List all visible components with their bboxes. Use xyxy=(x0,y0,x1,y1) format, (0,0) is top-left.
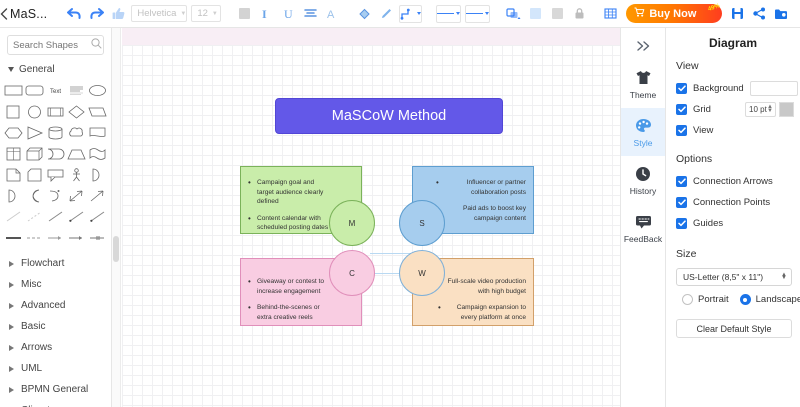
options-section-label: Options xyxy=(666,141,800,171)
chevron-down-icon xyxy=(485,12,489,15)
panel-title: Diagram xyxy=(666,28,800,59)
format-panel: Diagram View Background Grid 10 pt ▲▼ xyxy=(666,28,800,407)
document-title[interactable]: MaS... xyxy=(8,7,53,21)
view-section-label: View xyxy=(666,59,800,78)
clock-icon xyxy=(635,165,651,183)
search-input[interactable] xyxy=(13,40,91,51)
background-label: Background xyxy=(693,83,744,94)
quadrant-bullet: Influencer or partner collaboration post… xyxy=(445,178,526,197)
landscape-radio[interactable] xyxy=(740,294,751,305)
lock-icon[interactable] xyxy=(568,3,590,25)
shape-half-circle[interactable] xyxy=(88,165,107,184)
chevron-down-icon xyxy=(8,67,14,72)
connection-points-label: Connection Points xyxy=(693,197,770,208)
quadrant-circle-m[interactable]: M xyxy=(329,200,375,246)
chevron-down-icon xyxy=(456,12,460,15)
grid-size-value: 10 pt xyxy=(749,105,767,114)
chevron-down-icon: ▼ xyxy=(212,11,218,17)
stepper-arrows-icon[interactable]: ▲▼ xyxy=(767,106,775,113)
row-background: Background xyxy=(666,78,800,99)
category-label: BPMN General xyxy=(21,384,88,395)
shapes-panel: General Text xyxy=(0,28,112,407)
back-icon[interactable] xyxy=(0,0,8,28)
fill-color-icon[interactable] xyxy=(233,3,255,25)
shape-rectangle[interactable] xyxy=(4,81,23,100)
chevron-right-icon xyxy=(9,366,14,372)
quadrant-key: S xyxy=(419,219,424,228)
shape-square[interactable] xyxy=(4,102,23,121)
line-style-icon[interactable] xyxy=(436,5,461,23)
chevron-right-icon xyxy=(9,324,14,330)
tab-style[interactable]: Style xyxy=(621,108,665,156)
chevron-down-icon: ▼ xyxy=(180,11,186,17)
connector-style-icon[interactable] xyxy=(399,5,422,23)
thumbs-up-icon[interactable] xyxy=(107,3,129,25)
shape-wave[interactable] xyxy=(88,144,107,163)
orientation-group: Portrait Landscape xyxy=(666,286,800,305)
shape-cylinder[interactable] xyxy=(46,123,65,142)
shape-category-basic[interactable]: Basic xyxy=(0,316,111,337)
quadrant-bullet: Content calendar with scheduled posting … xyxy=(248,214,331,233)
background-color-input[interactable] xyxy=(750,81,798,96)
share-icon[interactable] xyxy=(748,3,770,25)
shape-operations-icon[interactable] xyxy=(502,3,524,25)
table-icon[interactable] xyxy=(600,3,622,25)
buy-now-button[interactable]: Buy Now 49% xyxy=(626,4,722,23)
shape-text[interactable]: Text xyxy=(46,81,65,100)
chevron-right-icon xyxy=(9,345,14,351)
font-size-select[interactable]: 12 ▼ xyxy=(191,5,221,22)
select-arrows-icon: ▲▼ xyxy=(781,274,787,281)
chevron-down-icon xyxy=(417,12,421,15)
shape-diamond[interactable] xyxy=(67,102,86,121)
tab-history[interactable]: History xyxy=(621,156,665,204)
quadrant-circle-c[interactable]: C xyxy=(329,250,375,296)
connection-arrows-label: Connection Arrows xyxy=(693,176,773,187)
category-label: Arrows xyxy=(21,342,52,353)
portrait-radio[interactable] xyxy=(682,294,693,305)
chevron-right-icon xyxy=(9,261,14,267)
portrait-label: Portrait xyxy=(698,294,729,305)
row-connection-points: Connection Points xyxy=(666,192,800,213)
feedback-icon xyxy=(635,213,652,231)
arrange-icon[interactable] xyxy=(524,3,546,25)
shape-triangle[interactable] xyxy=(25,123,44,142)
category-label: Advanced xyxy=(21,300,65,311)
folder-icon[interactable] xyxy=(770,3,792,25)
shape-line-arrow-3[interactable] xyxy=(67,228,86,247)
shape-line-bold[interactable] xyxy=(4,228,23,247)
landscape-label: Landscape xyxy=(756,294,800,305)
diagram-canvas[interactable]: MaSCoW Method Campaign goal and target a… xyxy=(112,28,620,407)
quadrant-circle-w[interactable]: W xyxy=(399,250,445,296)
quadrant-bullet: Behind-the-scenes or extra creative reel… xyxy=(248,303,331,322)
quadrant-bullet: Paid ads to boost key campaign content xyxy=(445,204,526,223)
general-shape-grid: Text xyxy=(0,79,111,251)
category-label: Misc xyxy=(21,279,42,290)
align-icon[interactable]: A xyxy=(321,3,343,25)
chevron-right-icon xyxy=(9,282,14,288)
shape-section-general[interactable]: General xyxy=(0,60,111,79)
undo-icon[interactable] xyxy=(63,3,85,25)
search-shapes-wrap xyxy=(0,28,111,60)
shape-trapezoid[interactable] xyxy=(67,144,86,163)
quadrant-bullet: Giveaway or contest to increase engageme… xyxy=(248,277,331,296)
row-view: View xyxy=(666,120,800,141)
search-shapes-box[interactable] xyxy=(7,35,104,55)
scrollbar-thumb[interactable] xyxy=(113,236,119,262)
svg-text:A: A xyxy=(327,9,335,20)
pen-icon[interactable] xyxy=(375,3,397,25)
tab-label: Theme xyxy=(630,90,656,100)
border-style-icon[interactable] xyxy=(465,5,490,23)
shape-actor[interactable] xyxy=(67,165,86,184)
tab-label: Style xyxy=(634,138,653,148)
distribute-icon[interactable] xyxy=(546,3,568,25)
category-label: Flowchart xyxy=(21,258,64,269)
quadrant-bullet: Campaign expansion to every platform at … xyxy=(447,303,526,322)
shape-line-arrow-4[interactable] xyxy=(88,228,107,247)
chevron-double-right-icon[interactable] xyxy=(621,32,665,60)
grid-label: Grid xyxy=(693,104,711,115)
shape-curve-arrow[interactable] xyxy=(46,186,65,205)
chevron-right-icon xyxy=(9,387,14,393)
svg-text:U: U xyxy=(284,7,293,20)
shape-cube[interactable] xyxy=(25,144,44,163)
tshirt-icon xyxy=(635,69,652,87)
row-grid: Grid 10 pt ▲▼ xyxy=(666,99,800,120)
shape-circle[interactable] xyxy=(25,102,44,121)
redo-icon[interactable] xyxy=(85,3,107,25)
view-label: View xyxy=(693,125,713,136)
quadrant-bullet: Campaign goal and target audience clearl… xyxy=(248,178,331,207)
connection-points-checkbox[interactable] xyxy=(676,197,687,208)
grid-checkbox[interactable] xyxy=(676,104,687,115)
right-tab-rail: Theme Style History FeedBack xyxy=(620,28,666,407)
chevron-right-icon xyxy=(9,303,14,309)
size-section-label: Size xyxy=(666,234,800,266)
shape-category-list: Flowchart Misc Advanced Basic Arrows UML… xyxy=(0,251,111,407)
canvas-vertical-scrollbar[interactable] xyxy=(112,28,121,407)
diagram-title-label: MaSCoW Method xyxy=(332,108,446,124)
shape-category-arrows[interactable]: Arrows xyxy=(0,337,111,358)
shape-table[interactable] xyxy=(4,144,23,163)
top-toolbar: MaS... Helvetica ▼ 12 ▼ I U xyxy=(0,0,800,28)
category-label: UML xyxy=(21,363,42,374)
guides-checkbox[interactable] xyxy=(676,218,687,229)
shape-process[interactable] xyxy=(46,102,65,121)
shape-line-arrow-2[interactable] xyxy=(46,228,65,247)
clear-default-style-button[interactable]: Clear Default Style xyxy=(676,319,792,338)
shape-category-bpmn-general[interactable]: BPMN General xyxy=(0,379,111,400)
tab-label: FeedBack xyxy=(624,234,662,244)
canvas-header-band xyxy=(122,28,620,45)
shape-arc[interactable] xyxy=(4,186,23,205)
shape-category-flowchart[interactable]: Flowchart xyxy=(0,253,111,274)
shape-card[interactable] xyxy=(25,165,44,184)
shape-hexagon[interactable] xyxy=(4,123,23,142)
quadrant-key: C xyxy=(349,269,355,278)
view-checkbox[interactable] xyxy=(676,125,687,136)
quadrant-key: M xyxy=(349,219,356,228)
connection-arrows-checkbox[interactable] xyxy=(676,176,687,187)
cart-icon xyxy=(634,7,645,20)
shape-category-clipart[interactable]: Clipart xyxy=(0,400,111,407)
discount-badge: 49% xyxy=(708,3,721,13)
shape-callout[interactable] xyxy=(46,165,65,184)
grid-color-swatch[interactable] xyxy=(779,102,794,117)
shape-line-dashed[interactable] xyxy=(25,207,44,226)
shape-crescent[interactable] xyxy=(25,186,44,205)
quadrant-bullet: Full-scale video production with high bu… xyxy=(447,277,526,296)
buy-now-label: Buy Now xyxy=(649,8,696,20)
font-family-select[interactable]: Helvetica ▼ xyxy=(131,5,187,22)
shape-line-dotted[interactable] xyxy=(46,207,65,226)
svg-text:I: I xyxy=(262,7,267,20)
tab-feedback[interactable]: FeedBack xyxy=(621,204,665,252)
palette-icon xyxy=(635,117,652,135)
shape-page[interactable] xyxy=(4,165,23,184)
shape-category-advanced[interactable]: Advanced xyxy=(0,295,111,316)
shape-line-thin[interactable] xyxy=(4,207,23,226)
shape-rounded-rectangle[interactable] xyxy=(25,81,44,100)
shape-parallelogram[interactable] xyxy=(88,102,107,121)
guides-label: Guides xyxy=(693,218,723,229)
svg-text:Text: Text xyxy=(50,89,61,95)
section-label: General xyxy=(19,64,55,75)
save-icon[interactable] xyxy=(726,3,748,25)
background-checkbox[interactable] xyxy=(676,83,687,94)
paint-bucket-icon[interactable] xyxy=(353,3,375,25)
shape-line-point[interactable] xyxy=(88,207,107,226)
shape-category-uml[interactable]: UML xyxy=(0,358,111,379)
row-connection-arrows: Connection Arrows xyxy=(666,171,800,192)
underline-icon[interactable] xyxy=(299,3,321,25)
shape-diagonal-arrow[interactable] xyxy=(88,186,107,205)
italic-icon[interactable]: U xyxy=(277,3,299,25)
quadrant-key: W xyxy=(418,269,426,278)
shape-line-dash-2[interactable] xyxy=(25,228,44,247)
shape-ellipse[interactable] xyxy=(88,81,107,100)
search-icon[interactable] xyxy=(91,38,102,52)
shape-cloud[interactable] xyxy=(67,123,86,142)
bold-icon[interactable]: I xyxy=(255,3,277,25)
font-size-value: 12 xyxy=(197,8,208,19)
row-guides: Guides xyxy=(666,213,800,234)
grid-size-stepper[interactable]: 10 pt ▲▼ xyxy=(745,102,776,117)
paper-size-value: US-Letter (8,5" x 11") xyxy=(683,272,763,282)
shape-data[interactable] xyxy=(46,144,65,163)
tab-theme[interactable]: Theme xyxy=(621,60,665,108)
shape-line-arrow[interactable] xyxy=(67,207,86,226)
font-family-value: Helvetica xyxy=(137,8,176,19)
diagram-title-node[interactable]: MaSCoW Method xyxy=(275,98,503,134)
tab-label: History xyxy=(630,186,656,196)
shape-document[interactable] xyxy=(88,123,107,142)
category-label: Basic xyxy=(21,321,45,332)
connector-m-s[interactable] xyxy=(370,253,412,254)
paper-size-select[interactable]: US-Letter (8,5" x 11") ▲▼ xyxy=(676,268,792,286)
quadrant-circle-s[interactable]: S xyxy=(399,200,445,246)
shape-category-misc[interactable]: Misc xyxy=(0,274,111,295)
shape-double-arrow[interactable] xyxy=(67,186,86,205)
shape-note-lines[interactable] xyxy=(67,81,86,100)
